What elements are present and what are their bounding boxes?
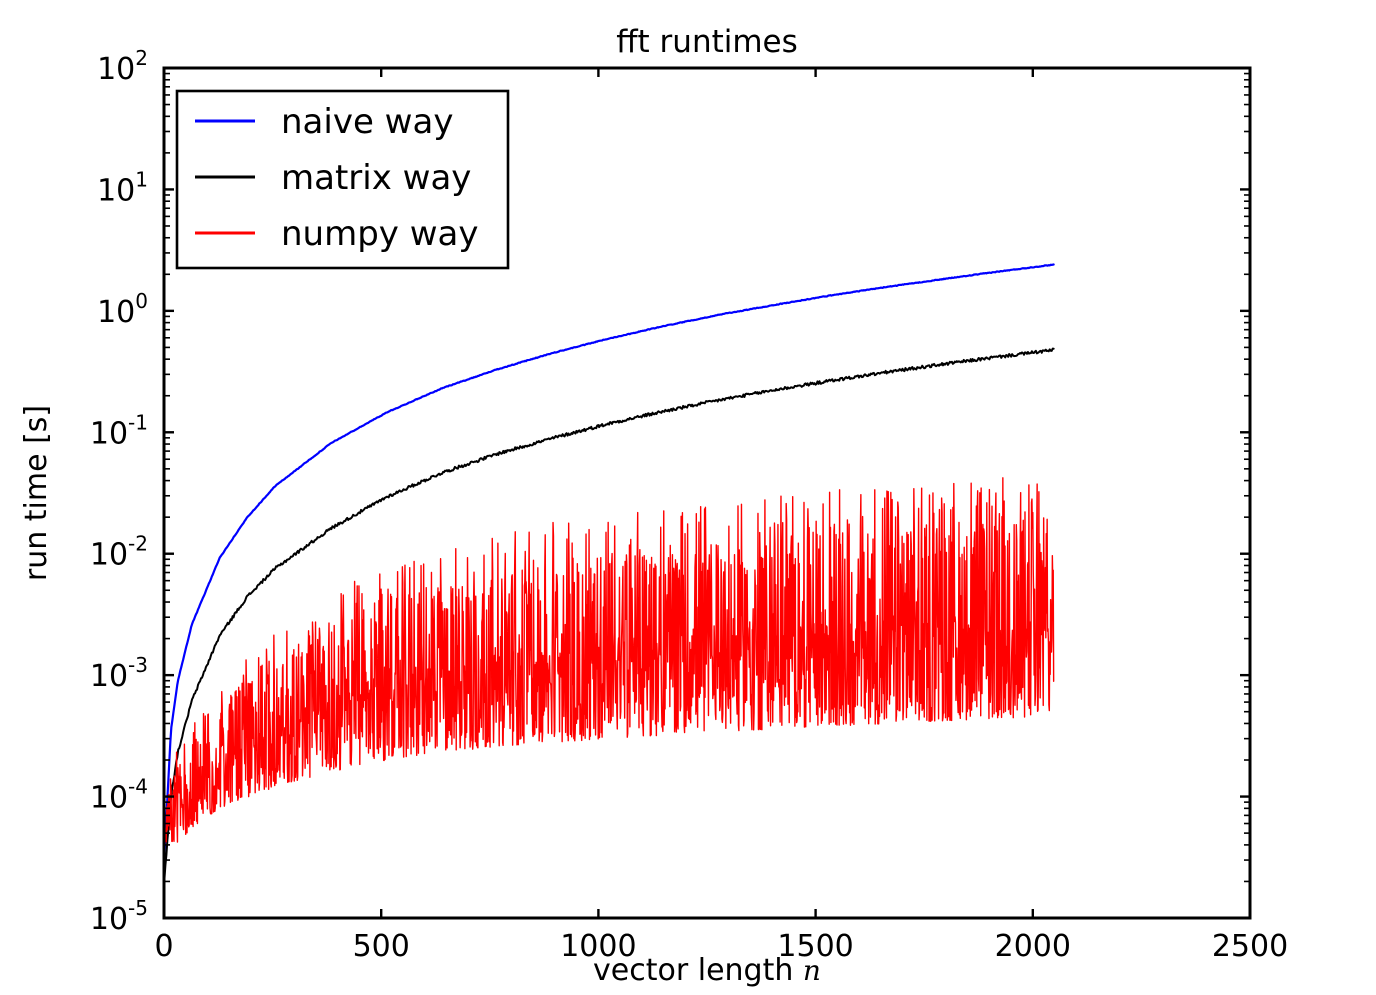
x-axis-title: vector length n [593,953,821,988]
x-axis-title-group: vector length n [593,953,821,988]
chart-title: fft runtimes [616,24,798,60]
y-axis-title: run time [s] [19,405,54,581]
y-axis-title-group: run time [s] [19,405,54,581]
legend-label-naive-way[interactable]: naive way [281,102,453,142]
legend-label-numpy-way[interactable]: numpy way [281,214,479,254]
x-tick-label-0: 0 [154,929,173,964]
fft-runtimes-chart: fft runtimes 0500100015002000250010-510-… [0,0,1376,995]
legend-label-matrix-way[interactable]: matrix way [281,158,471,198]
x-tick-label-500: 500 [353,929,410,964]
chart-legend[interactable]: naive waymatrix waynumpy way [177,91,508,268]
x-tick-label-2500: 2500 [1212,929,1288,964]
figure-canvas: fft runtimes 0500100015002000250010-510-… [0,0,1376,995]
x-tick-label-2000: 2000 [995,929,1071,964]
